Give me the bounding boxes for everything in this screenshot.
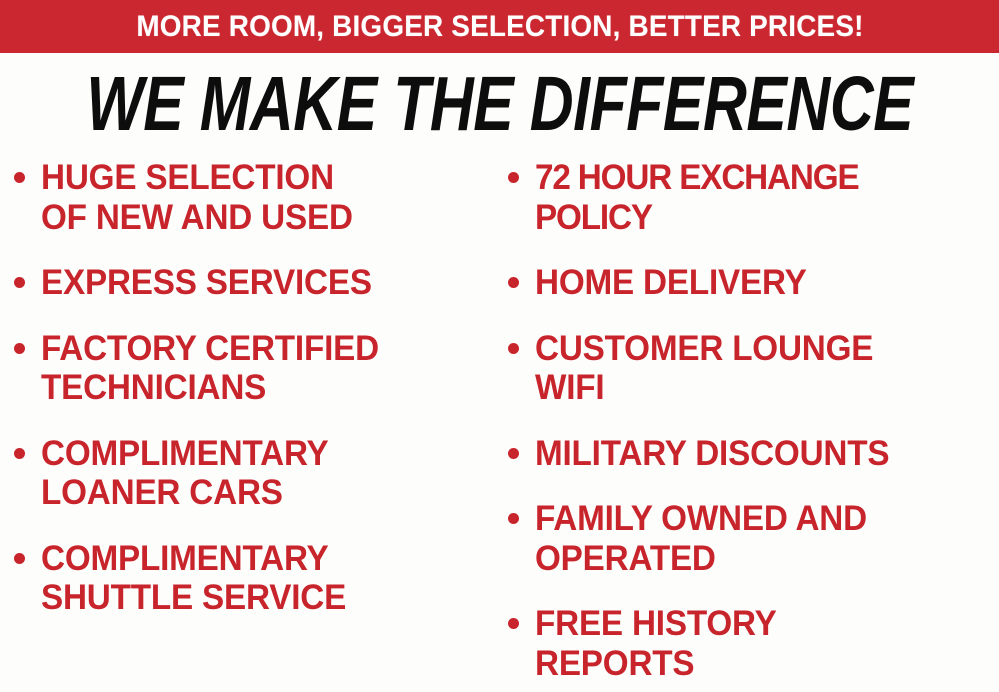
list-item-label: FACTORY CERTIFIED TECHNICIANS (41, 329, 481, 408)
list-item-label: FREE HISTORY REPORTS (535, 604, 976, 683)
list-item-label: EXPRESS SERVICES (41, 263, 481, 303)
bullet-dot-icon (508, 618, 519, 629)
bullet-dot-icon (14, 448, 25, 459)
page-title: WE MAKE THE DIFFERENCE (86, 64, 913, 141)
list-item-label: CUSTOMER LOUNGE WIFI (535, 329, 976, 408)
bullet-dot-icon (508, 172, 519, 183)
list-item: FACTORY CERTIFIED TECHNICIANS (14, 329, 504, 408)
bullet-dot-icon (14, 172, 25, 183)
promo-strip-text: MORE ROOM, BIGGER SELECTION, BETTER PRIC… (136, 12, 863, 42)
bullet-dot-icon (508, 448, 519, 459)
list-item: FREE HISTORY REPORTS (508, 604, 999, 683)
list-item-label: 72 HOUR EXCHANGE POLICY (535, 158, 976, 237)
list-item: HUGE SELECTION OF NEW AND USED (14, 158, 504, 237)
list-item: CUSTOMER LOUNGE WIFI (508, 329, 999, 408)
list-item-label: HOME DELIVERY (535, 263, 976, 303)
promo-strip: MORE ROOM, BIGGER SELECTION, BETTER PRIC… (0, 0, 999, 53)
bullet-dot-icon (14, 277, 25, 288)
dealership-promo-banner: MORE ROOM, BIGGER SELECTION, BETTER PRIC… (0, 0, 999, 692)
list-item-label: HUGE SELECTION OF NEW AND USED (41, 158, 481, 237)
benefits-column-left: HUGE SELECTION OF NEW AND USED EXPRESS S… (14, 158, 504, 644)
headline-container: WE MAKE THE DIFFERENCE (0, 62, 999, 144)
list-item: FAMILY OWNED AND OPERATED (508, 499, 999, 578)
benefits-column-right: 72 HOUR EXCHANGE POLICY HOME DELIVERY CU… (508, 158, 999, 692)
bullet-dot-icon (508, 513, 519, 524)
benefits-columns: HUGE SELECTION OF NEW AND USED EXPRESS S… (0, 158, 999, 692)
list-item-label: FAMILY OWNED AND OPERATED (535, 499, 976, 578)
bullet-dot-icon (508, 343, 519, 354)
list-item: COMPLIMENTARY SHUTTLE SERVICE (14, 539, 504, 618)
list-item: EXPRESS SERVICES (14, 263, 504, 303)
list-item-label: COMPLIMENTARY SHUTTLE SERVICE (41, 539, 481, 618)
bullet-dot-icon (508, 277, 519, 288)
list-item-label: COMPLIMENTARY LOANER CARS (41, 434, 481, 513)
list-item: MILITARY DISCOUNTS (508, 434, 999, 474)
bullet-dot-icon (14, 553, 25, 564)
bullet-dot-icon (14, 343, 25, 354)
list-item: HOME DELIVERY (508, 263, 999, 303)
list-item-label: MILITARY DISCOUNTS (535, 434, 976, 474)
list-item: COMPLIMENTARY LOANER CARS (14, 434, 504, 513)
list-item: 72 HOUR EXCHANGE POLICY (508, 158, 999, 237)
